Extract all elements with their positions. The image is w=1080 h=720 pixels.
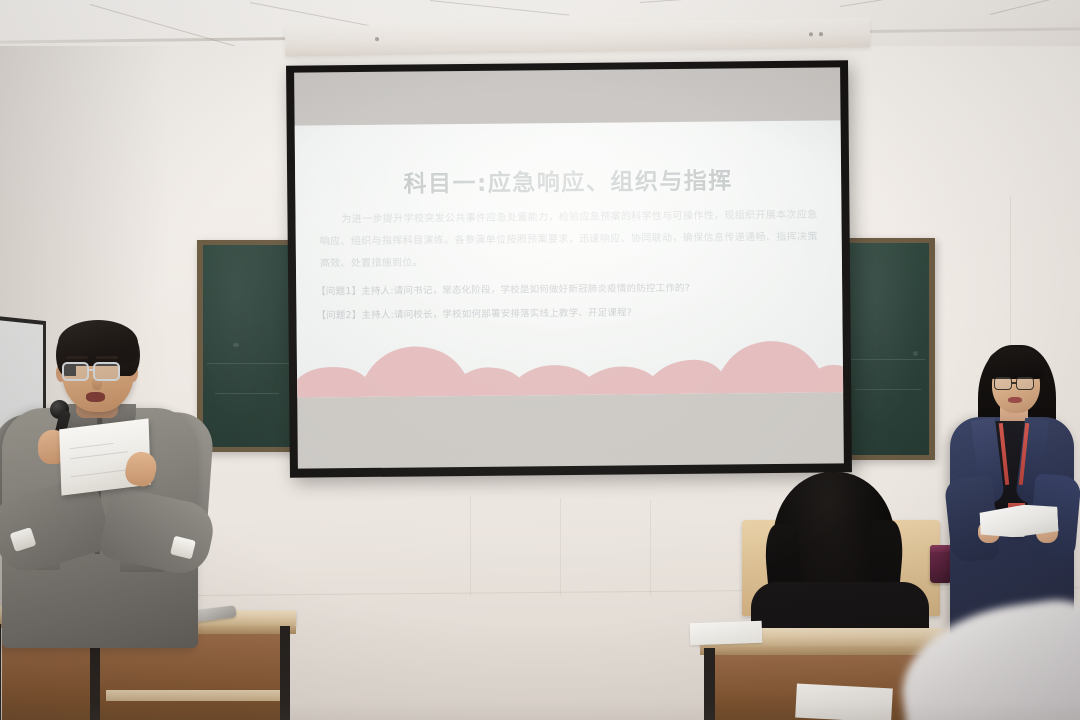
slide-question-1: 【问题1】主持人:请问书记，常态化阶段，学校是如何做好新冠肺炎疫情的防控工作的? [316,279,824,298]
slide-question-2: 【问题2】主持人:请问校长，学校如何部署安排落实线上教学、开足课程? [316,303,824,322]
slide-hill-decoration [297,334,844,397]
projector-screen: 科目一:应急响应、组织与指挥 为进一步提升学校突发公共事件应急处置能力，检验应急… [286,60,852,477]
presentation-slide: 科目一:应急响应、组织与指挥 为进一步提升学校突发公共事件应急处置能力，检验应急… [295,120,844,397]
speaker-hair [58,320,138,366]
slide-title: 科目一:应急响应、组织与指挥 [295,160,841,199]
projection-surface: 科目一:应急响应、组织与指挥 为进一步提升学校突发公共事件应急处置能力，检验应急… [294,67,844,468]
eyeglasses-icon [994,377,1012,390]
slide-body-paragraph: 为进一步提升学校突发公共事件应急处置能力，检验应急预案的科学性与可操作性，现组织… [319,205,818,276]
right-blackboard [843,238,935,460]
floor-shadow [0,520,1080,720]
classroom-photo: 科目一:应急响应、组织与指挥 为进一步提升学校突发公共事件应急处置能力，检验应急… [0,0,1080,720]
eyeglasses-icon [62,362,89,381]
